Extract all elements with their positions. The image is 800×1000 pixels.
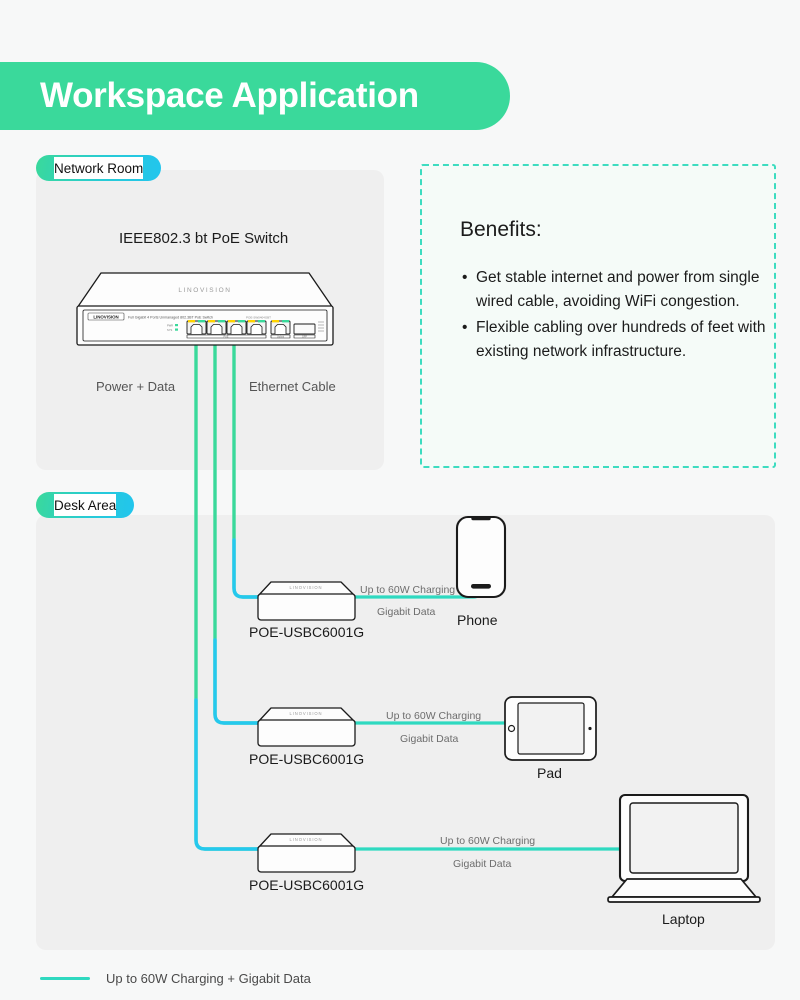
laptop-screen [630, 803, 738, 873]
device-pad [505, 697, 596, 760]
switch-led [175, 329, 178, 331]
laptop-base-front [608, 897, 760, 902]
switch-sfp-slot: SFP [294, 324, 315, 339]
switch-led-label: SYS [167, 328, 172, 332]
phone-home-indicator [471, 584, 491, 589]
pad-camera [588, 727, 591, 730]
adapter-laptop: LINOVISION [258, 834, 355, 872]
switch-port-uplink: Uplink [271, 320, 290, 339]
switch-port [247, 320, 266, 334]
device-phone [457, 517, 505, 597]
switch-ports-poe-label: PoE [224, 335, 229, 339]
switch-led [175, 324, 178, 326]
switch-port [187, 320, 206, 334]
pad-screen [518, 703, 584, 754]
badge-desk-area-label: Desk Area [54, 498, 116, 513]
adapter-body [258, 720, 355, 746]
device-laptop [608, 795, 760, 902]
adapter-phone: LINOVISION [258, 582, 355, 620]
svg-text:SFP: SFP [302, 335, 307, 339]
switch-port [207, 320, 226, 334]
diagram-canvas: Workspace Application Network Room Desk … [0, 0, 800, 1000]
switch-panel-subtext: POE-SW0404GBT [246, 316, 271, 320]
adapter-body [258, 846, 355, 872]
poe-switch: LINOVISION LINOVISION Full Gigabit 4 Por… [77, 273, 333, 345]
badge-network-room-label: Network Room [54, 161, 143, 176]
badge-network-room: Network Room [36, 155, 161, 181]
laptop-base [612, 879, 756, 897]
pad-home-button [509, 726, 515, 732]
adapter-brand: LINOVISION [290, 585, 323, 590]
svg-text:Uplink: Uplink [277, 335, 285, 339]
badge-desk-area: Desk Area [36, 492, 134, 518]
switch-top-brand: LINOVISION [178, 287, 231, 294]
adapter-brand: LINOVISION [290, 837, 323, 842]
adapter-brand: LINOVISION [290, 711, 323, 716]
adapter-pad: LINOVISION [258, 708, 355, 746]
switch-port [227, 320, 246, 334]
adapter-body [258, 594, 355, 620]
switch-led-label: PWR [167, 323, 173, 327]
switch-panel-text: Full Gigabit 4 Ports Unmanaged 802.3BT P… [128, 316, 213, 320]
switch-brand-text: LINOVISION [93, 315, 118, 320]
